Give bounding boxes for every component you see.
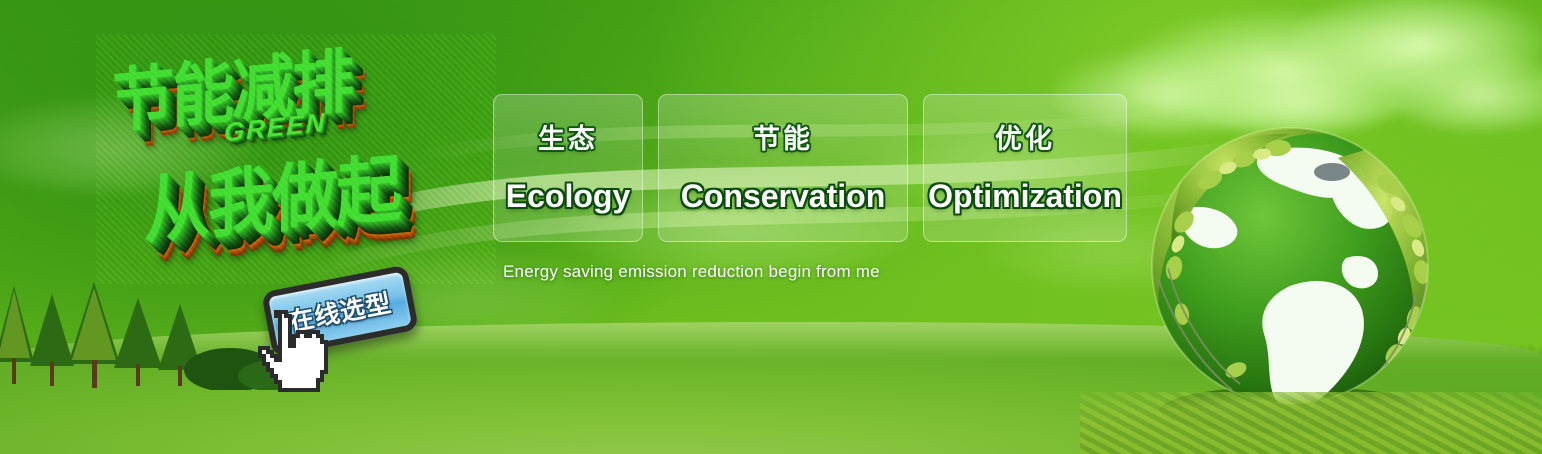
feature-card-cn-label: 优化 — [995, 117, 1055, 156]
feature-card-en-label: Conservation — [681, 178, 885, 215]
cta-area: 在线选型 — [252, 272, 442, 382]
tagline: Energy saving emission reduction begin f… — [503, 262, 880, 282]
feature-card-cn-label: 生态 — [538, 117, 598, 156]
feature-cards: 生态 Ecology 节能 Conservation 优化 Optimizati… — [493, 94, 1127, 242]
cloud-icon — [1120, 10, 1450, 130]
feature-card-en-label: Optimization — [928, 178, 1122, 215]
headline-3d: 节能减排 GREEN 从我做起 — [96, 34, 496, 284]
feature-card-cn-label: 节能 — [753, 117, 813, 156]
feature-card-en-label: Ecology — [506, 178, 630, 215]
headline-bottom-line: 从我做起 — [144, 129, 400, 259]
pointing-hand-cursor-icon — [246, 308, 328, 400]
feature-card-optimization[interactable]: 优化 Optimization — [923, 94, 1127, 242]
feature-card-ecology[interactable]: 生态 Ecology — [493, 94, 643, 242]
feature-card-conservation[interactable]: 节能 Conservation — [658, 94, 908, 242]
cloud-icon — [1290, 0, 1542, 90]
fallen-leaves-pile — [1080, 392, 1542, 454]
green-energy-banner: 节能减排 GREEN 从我做起 生态 Ecology 节能 Conservati… — [0, 0, 1542, 454]
leafy-earth-globe-icon — [1140, 118, 1450, 438]
